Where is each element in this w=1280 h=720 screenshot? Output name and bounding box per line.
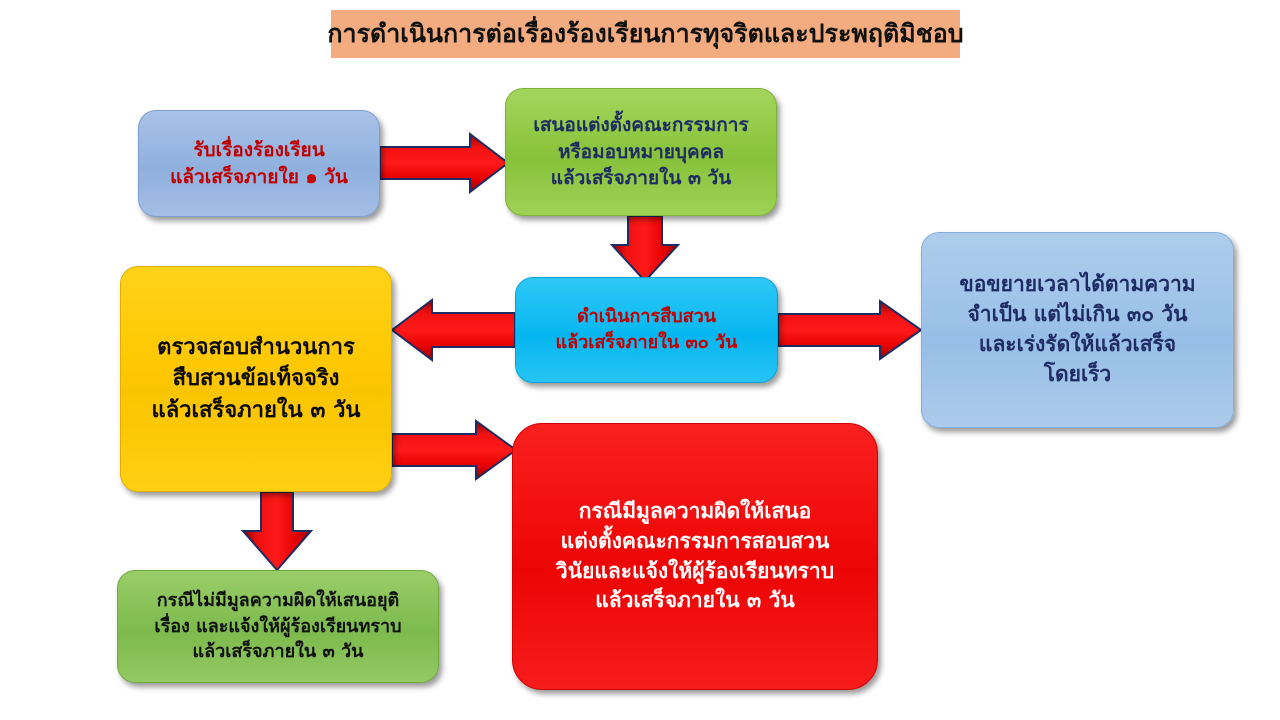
- node-appoint-committee[interactable]: เสนอแต่งตั้งคณะกรรมการ หรือมอบหมายบุคคล …: [505, 88, 777, 216]
- node-extend-time-label: ขอขยายเวลาได้ตามความ จำเป็น แต่ไม่เกิน ๓…: [932, 270, 1223, 389]
- node-receive-complaint-label: รับเรื่องร้องเรียน แล้วเสร็จภายใย ๑ วัน: [149, 137, 369, 191]
- arrow-investigate-to-review: [392, 300, 515, 360]
- node-review-file[interactable]: ตรวจสอบสำนวนการ สืบสวนข้อเท็จจริง แล้วเส…: [120, 266, 392, 492]
- node-review-file-label: ตรวจสอบสำนวนการ สืบสวนข้อเท็จจริง แล้วเส…: [131, 332, 381, 426]
- node-no-case-label: กรณีไม่มีมูลความผิดให้เสนอยุติ เรื่อง แล…: [128, 588, 428, 665]
- node-investigate[interactable]: ดำเนินการสืบสวน แล้วเสร็จภายใน ๓๐ วัน: [515, 277, 778, 383]
- node-no-case[interactable]: กรณีไม่มีมูลความผิดให้เสนอยุติ เรื่อง แล…: [117, 570, 439, 683]
- node-appoint-committee-label: เสนอแต่งตั้งคณะกรรมการ หรือมอบหมายบุคคล …: [516, 112, 766, 193]
- node-extend-time[interactable]: ขอขยายเวลาได้ตามความ จำเป็น แต่ไม่เกิน ๓…: [921, 232, 1234, 428]
- arrow-appoint-to-investigate: [612, 216, 678, 281]
- node-receive-complaint[interactable]: รับเรื่องร้องเรียน แล้วเสร็จภายใย ๑ วัน: [138, 110, 380, 217]
- diagram-title-banner: การดำเนินการต่อเรื่องร้องเรียนการทุจริตแ…: [331, 10, 960, 58]
- arrow-review-to-nocase: [243, 492, 311, 570]
- arrow-review-to-guilty: [392, 421, 516, 479]
- diagram-canvas: การดำเนินการต่อเรื่องร้องเรียนการทุจริตแ…: [0, 0, 1280, 720]
- node-guilty-case[interactable]: กรณีมีมูลความผิดให้เสนอ แต่งตั้งคณะกรรมก…: [512, 423, 878, 690]
- node-investigate-label: ดำเนินการสืบสวน แล้วเสร็จภายใน ๓๐ วัน: [526, 304, 767, 355]
- arrow-receive-to-appoint: [380, 134, 508, 192]
- page-title: การดำเนินการต่อเรื่องร้องเรียนการทุจริตแ…: [327, 20, 963, 48]
- node-guilty-case-label: กรณีมีมูลความผิดให้เสนอ แต่งตั้งคณะกรรมก…: [523, 497, 867, 616]
- arrow-investigate-to-extend: [778, 301, 921, 359]
